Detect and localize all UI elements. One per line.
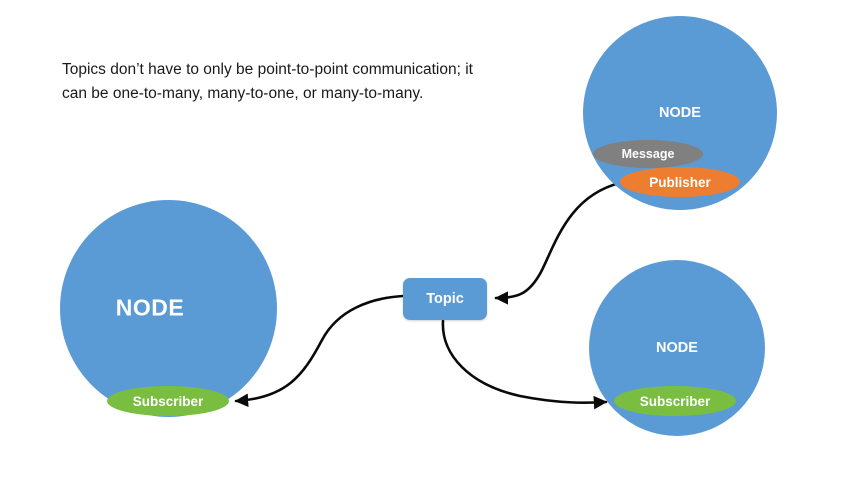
conn-topic-to-subscriber-bottom-right <box>443 321 606 403</box>
subscriber-pill-left[interactable]: Subscriber <box>107 386 229 416</box>
caption-text: Topics don’t have to only be point-to-po… <box>62 58 482 105</box>
node-top-right-label: NODE <box>659 105 701 121</box>
publisher-pill[interactable]: Publisher <box>620 167 740 197</box>
message-pill[interactable]: Message <box>593 140 703 168</box>
conn-publisher-to-topic <box>496 183 620 298</box>
node-bottom-right-label: NODE <box>656 340 698 356</box>
subscriber-pill-bottom-right[interactable]: Subscriber <box>614 386 736 416</box>
diagram-canvas: Topics don’t have to only be point-to-po… <box>0 0 854 480</box>
topic-box[interactable]: Topic <box>403 278 487 320</box>
node-left-label: NODE <box>116 295 184 322</box>
